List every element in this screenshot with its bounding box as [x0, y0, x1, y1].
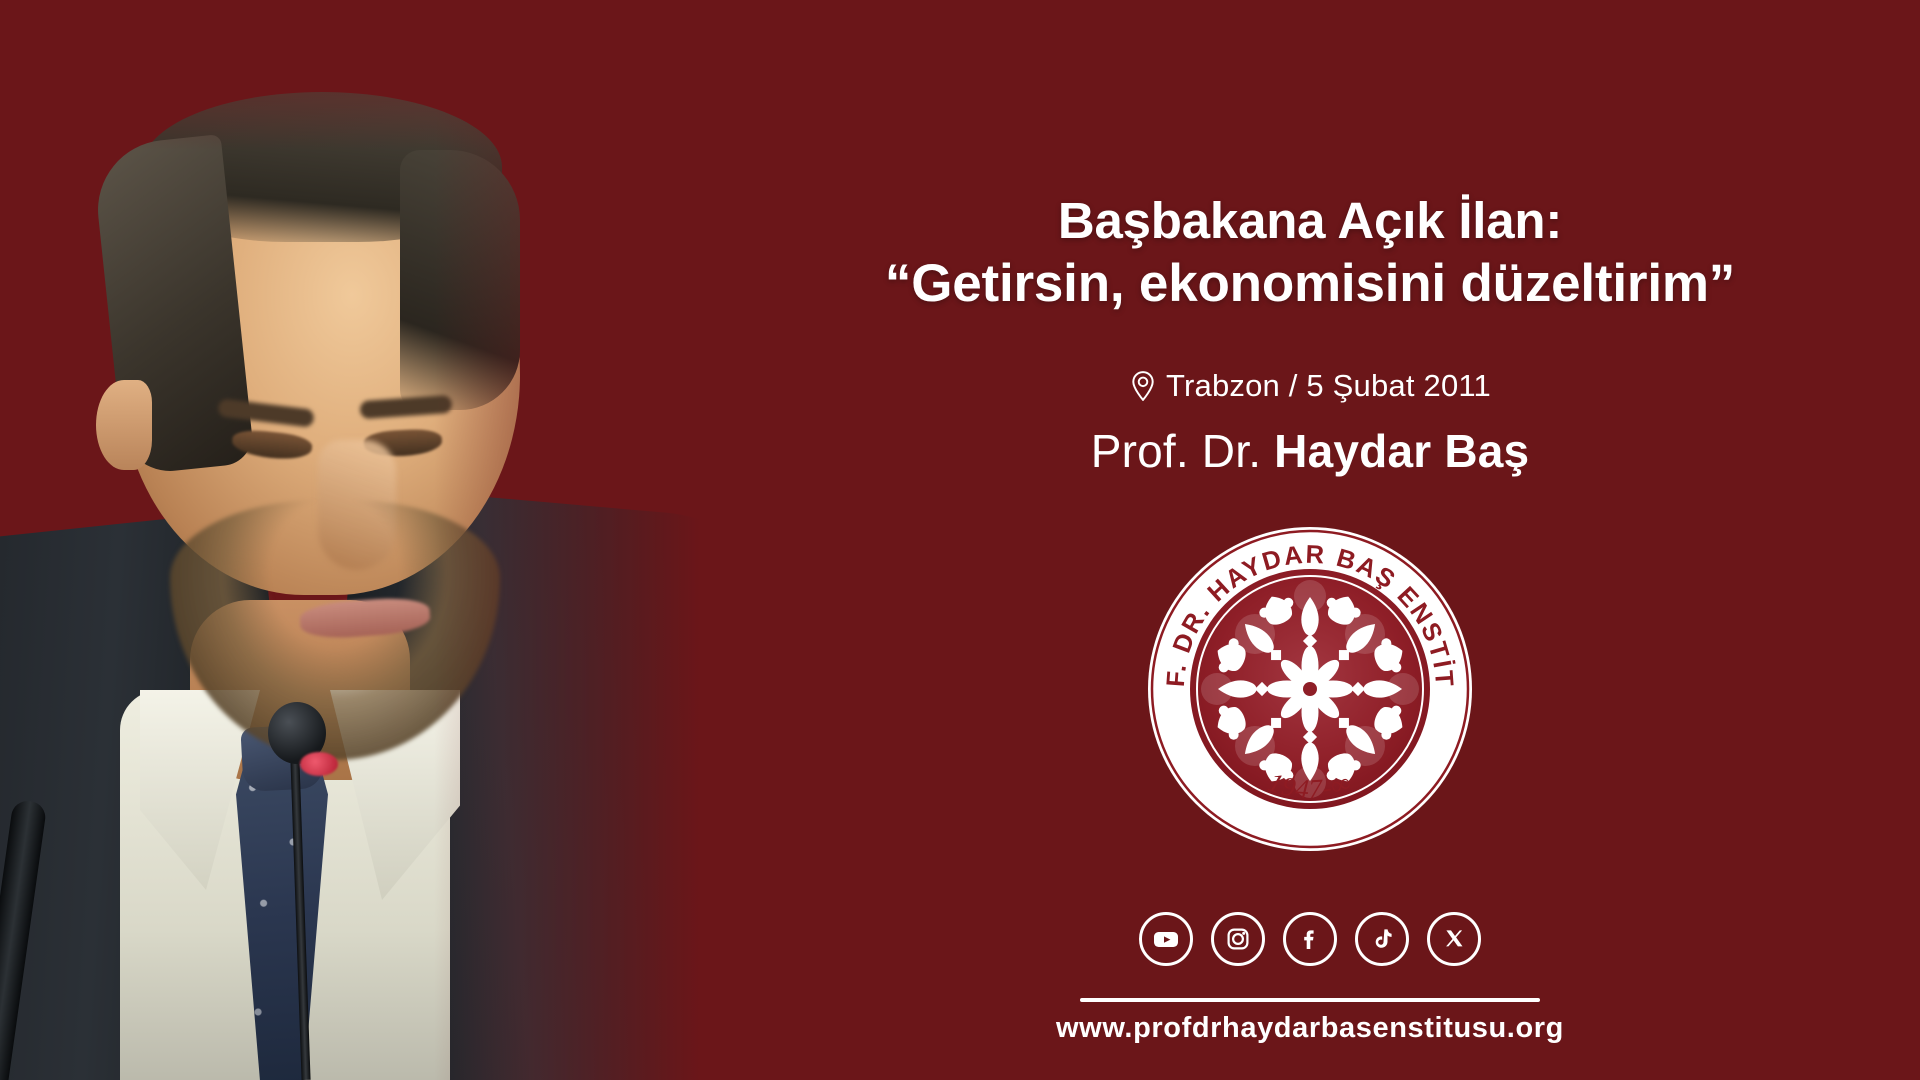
institute-seal: PROF. DR. HAYDAR BAŞ ENSTİTÜSÜ 1947-∞ [1145, 524, 1475, 854]
headline: Başbakana Açık İlan: “Getirsin, ekonomis… [700, 190, 1920, 317]
social-link-facebook[interactable] [1283, 912, 1337, 966]
speaker-fullname: Haydar Baş [1274, 425, 1529, 477]
poster-canvas: Başbakana Açık İlan: “Getirsin, ekonomis… [0, 0, 1920, 1080]
headline-line-2: “Getirsin, ekonomisini düzeltirim” [700, 252, 1920, 317]
footer-divider [1080, 998, 1540, 1002]
social-link-youtube[interactable] [1139, 912, 1193, 966]
instagram-icon [1224, 925, 1252, 953]
website-url[interactable]: www.profdrhaydarbasenstitusu.org [700, 1012, 1920, 1045]
social-links [700, 912, 1920, 966]
youtube-icon [1152, 925, 1180, 953]
content-column: Başbakana Açık İlan: “Getirsin, ekonomis… [700, 0, 1920, 1080]
hair-right [400, 150, 520, 410]
speaker-photo [0, 0, 700, 1080]
event-meta: Trabzon / 5 Şubat 2011 [700, 368, 1920, 404]
social-link-instagram[interactable] [1211, 912, 1265, 966]
ear [96, 380, 152, 470]
facebook-icon [1296, 925, 1324, 953]
x-twitter-icon [1440, 925, 1468, 953]
headline-line-1: Başbakana Açık İlan: [700, 190, 1920, 252]
location-date-text: Trabzon / 5 Şubat 2011 [1166, 368, 1491, 404]
tiktok-icon [1368, 925, 1396, 953]
speaker-name: Prof. Dr. Haydar Baş [700, 424, 1920, 478]
social-link-tiktok[interactable] [1355, 912, 1409, 966]
social-link-x[interactable] [1427, 912, 1481, 966]
location-pin-icon [1129, 371, 1157, 401]
speaker-title: Prof. Dr. [1091, 425, 1274, 477]
microphone-indicator [300, 752, 338, 776]
